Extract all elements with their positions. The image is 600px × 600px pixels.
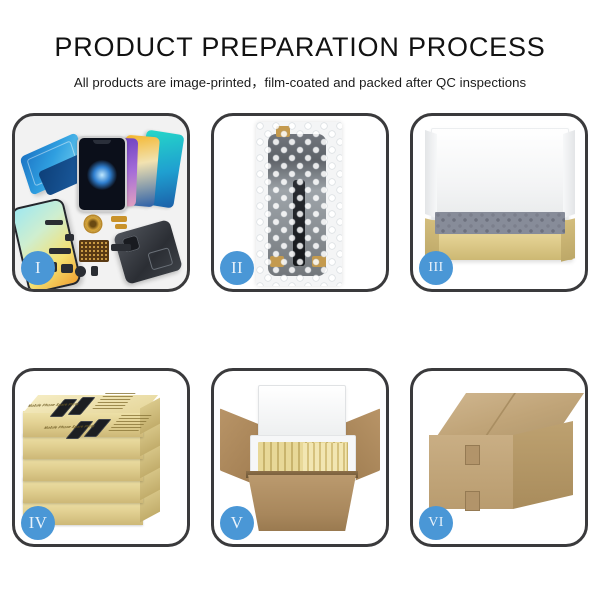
carton-front-face <box>248 475 356 531</box>
panel-5-illustration: V <box>214 371 386 544</box>
carton-right-face <box>513 421 573 509</box>
bubble-texture-overlay <box>256 122 342 286</box>
step-badge-6: VI <box>419 506 453 540</box>
speaker-part-icon <box>75 266 86 277</box>
connector-grid-chip-icon <box>79 240 109 262</box>
panel-4-illustration: Mobile Phone Spare Parts Mobile Phone Sp… <box>15 371 187 544</box>
process-step-grid: I II III <box>12 113 588 547</box>
page-subtitle: All products are image-printed，film-coat… <box>0 72 600 91</box>
gold-flex-part-2 <box>115 224 127 229</box>
flex-cable-part-1 <box>45 220 63 225</box>
process-step-panel-3[interactable]: III <box>410 113 588 292</box>
copper-coil-icon <box>85 216 101 232</box>
gold-flex-part-1 <box>111 216 127 222</box>
tempered-glass-screen-icon <box>77 136 127 212</box>
foam-lid-open <box>258 385 346 441</box>
panel-2-illustration: II <box>214 116 386 289</box>
carton-tape-lower <box>465 491 480 511</box>
panel-1-illustration: I <box>15 116 187 289</box>
step-badge-2: II <box>220 251 254 285</box>
tray-foam-insert <box>435 212 565 234</box>
process-step-panel-2[interactable]: II <box>211 113 389 292</box>
screen-wallpaper-splash <box>87 160 117 190</box>
small-component-part-2 <box>61 264 73 273</box>
step-badge-5: V <box>220 506 254 540</box>
process-step-panel-6[interactable]: VI <box>410 368 588 547</box>
small-component-part-4 <box>65 234 74 241</box>
process-step-panel-1[interactable]: I <box>12 113 190 292</box>
page-title: PRODUCT PREPARATION PROCESS <box>0 34 600 61</box>
step-badge-1: I <box>21 251 55 285</box>
bubble-wrap-bag <box>256 122 342 286</box>
panel-6-illustration: VI <box>413 371 585 544</box>
white-foam-lid <box>431 128 569 224</box>
step-badge-4: IV <box>21 506 55 540</box>
step-badge-3: III <box>419 251 453 285</box>
flex-cable-part-3 <box>111 244 131 251</box>
page-header: PRODUCT PREPARATION PROCESS All products… <box>0 0 600 91</box>
yellow-inner-tray <box>427 220 573 260</box>
phone-notch-icon <box>93 140 111 144</box>
panel-3-illustration: III <box>413 116 585 289</box>
small-component-part-3 <box>91 266 98 276</box>
process-step-panel-4[interactable]: Mobile Phone Spare Parts Mobile Phone Sp… <box>12 368 190 547</box>
process-step-panel-5[interactable]: V <box>211 368 389 547</box>
flex-cable-part-2 <box>49 248 71 254</box>
carton-tape-upper <box>465 445 480 465</box>
packed-yellow-boxes-row-2 <box>303 443 346 473</box>
